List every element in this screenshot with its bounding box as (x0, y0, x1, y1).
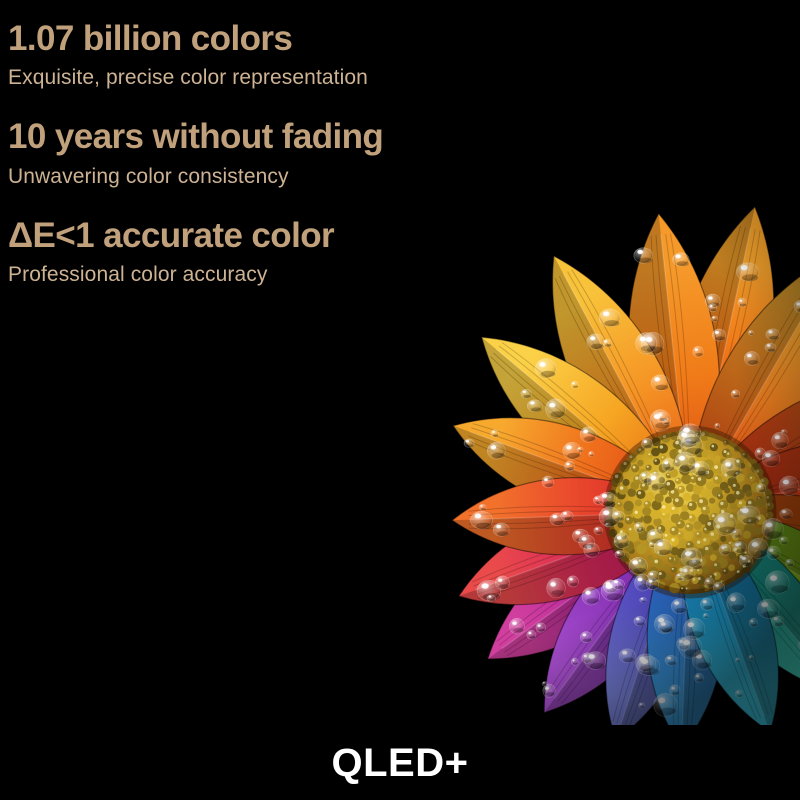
feature-headline: 10 years without fading (8, 116, 478, 157)
feature-subtitle: Professional color accuracy (8, 262, 478, 287)
feature-headline: 1.07 billion colors (8, 18, 478, 59)
feature-list: 1.07 billion colors Exquisite, precise c… (8, 18, 478, 287)
feature-subtitle: Unwavering color consistency (8, 164, 478, 189)
qled-color-feature-panel: 1.07 billion colors Exquisite, precise c… (0, 0, 800, 800)
feature-item-color-depth: 1.07 billion colors Exquisite, precise c… (8, 18, 478, 90)
feature-item-color-accuracy: ΔE<1 accurate color Professional color a… (8, 215, 478, 287)
brand-banner: QLED+ (0, 725, 800, 800)
feature-subtitle: Exquisite, precise color representation (8, 65, 478, 90)
feature-headline: ΔE<1 accurate color (8, 215, 478, 256)
qled-plus-wordmark: QLED+ (332, 743, 469, 783)
feature-item-fade-resistance: 10 years without fading Unwavering color… (8, 116, 478, 188)
